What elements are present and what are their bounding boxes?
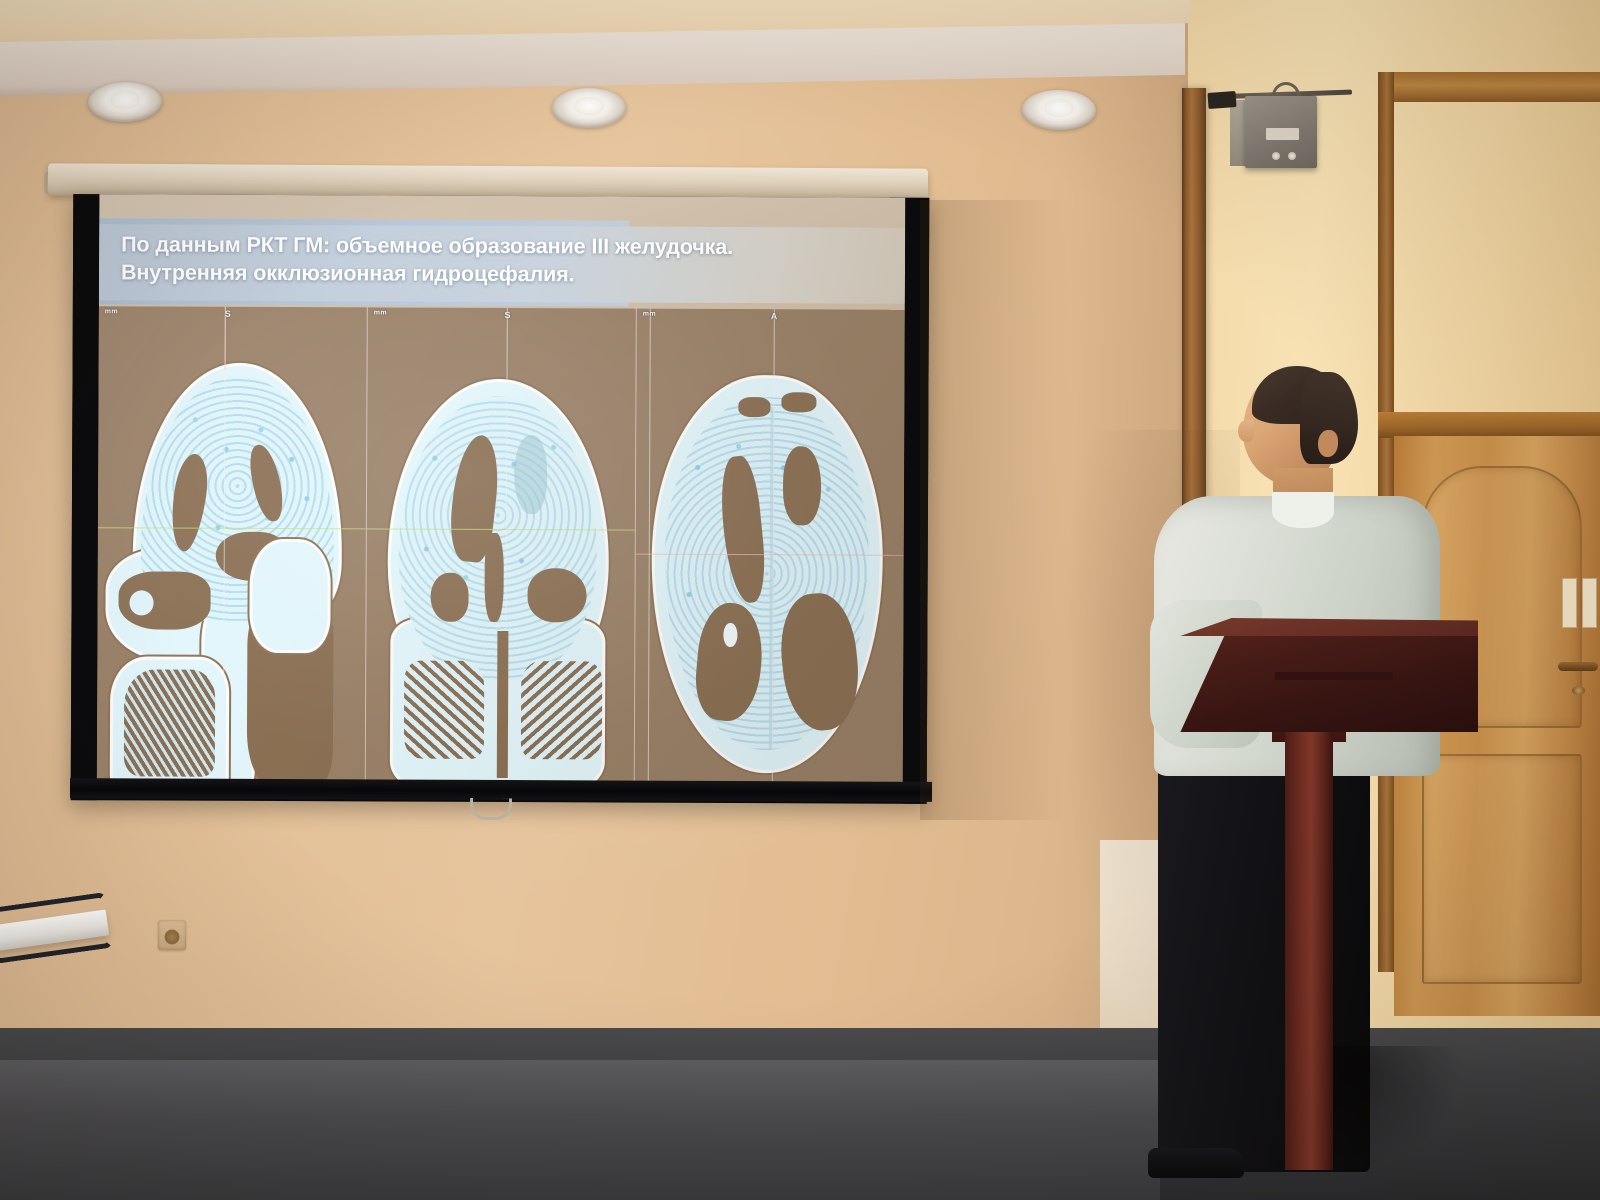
presenter-nose [1238, 420, 1254, 442]
ct-image-grid: mm S [97, 306, 905, 800]
slide-title-line-1: По данным РКТ ГМ: объемное образование I… [121, 230, 891, 262]
door-sign-plate [1582, 578, 1597, 628]
door-handle[interactable] [1558, 662, 1598, 671]
ct-scale-label: mm [105, 308, 118, 315]
door-lock-icon[interactable] [1572, 686, 1585, 695]
ct-panel-sagittal[interactable]: mm S [97, 306, 368, 797]
lectern-shelf [1275, 672, 1393, 680]
ct-scale-label: mm [374, 309, 387, 316]
indicator-light-icon [1272, 152, 1280, 160]
door-lintel [1378, 412, 1600, 438]
screen-border-left [71, 194, 100, 800]
screen-pull-ring[interactable] [470, 798, 512, 820]
wall-power-socket[interactable] [158, 920, 186, 950]
door-panel-lower [1422, 754, 1582, 984]
device-label [1266, 128, 1299, 140]
ct-panel-axial[interactable]: mm A [635, 309, 905, 800]
ct-scale-label: mm [643, 311, 656, 318]
floor-carpet-left [0, 1060, 1160, 1200]
slide-surface: По данным РКТ ГМ: объемное образование I… [97, 194, 906, 800]
lectern-column [1285, 700, 1333, 1170]
orientation-marker-superior: S [504, 310, 510, 320]
indicator-light-icon [1288, 152, 1296, 160]
pillar-bracket [1207, 91, 1236, 109]
wall-shadow [920, 200, 1070, 820]
ct-panel-coronal[interactable]: mm S [366, 307, 637, 798]
orientation-marker-anterior: A [771, 311, 778, 321]
slide-title: По данным РКТ ГМ: объемное образование I… [121, 230, 891, 290]
door-sign-plate [1562, 578, 1577, 628]
presenter-collar [1272, 492, 1334, 528]
slide-title-line-2: Внутренняя окклюзионная гидроцефалия. [121, 259, 891, 291]
room-scene: По данным РКТ ГМ: объемное образование I… [0, 0, 1600, 1200]
orientation-marker-superior: S [225, 309, 231, 319]
door-header-beam [1378, 72, 1600, 102]
presenter-shoe [1148, 1148, 1244, 1178]
projection-screen[interactable]: По данным РКТ ГМ: объемное образование I… [71, 194, 930, 804]
downlight-icon [552, 88, 626, 128]
lectern-shadow [1330, 1046, 1460, 1166]
presenter-ear [1318, 430, 1338, 457]
